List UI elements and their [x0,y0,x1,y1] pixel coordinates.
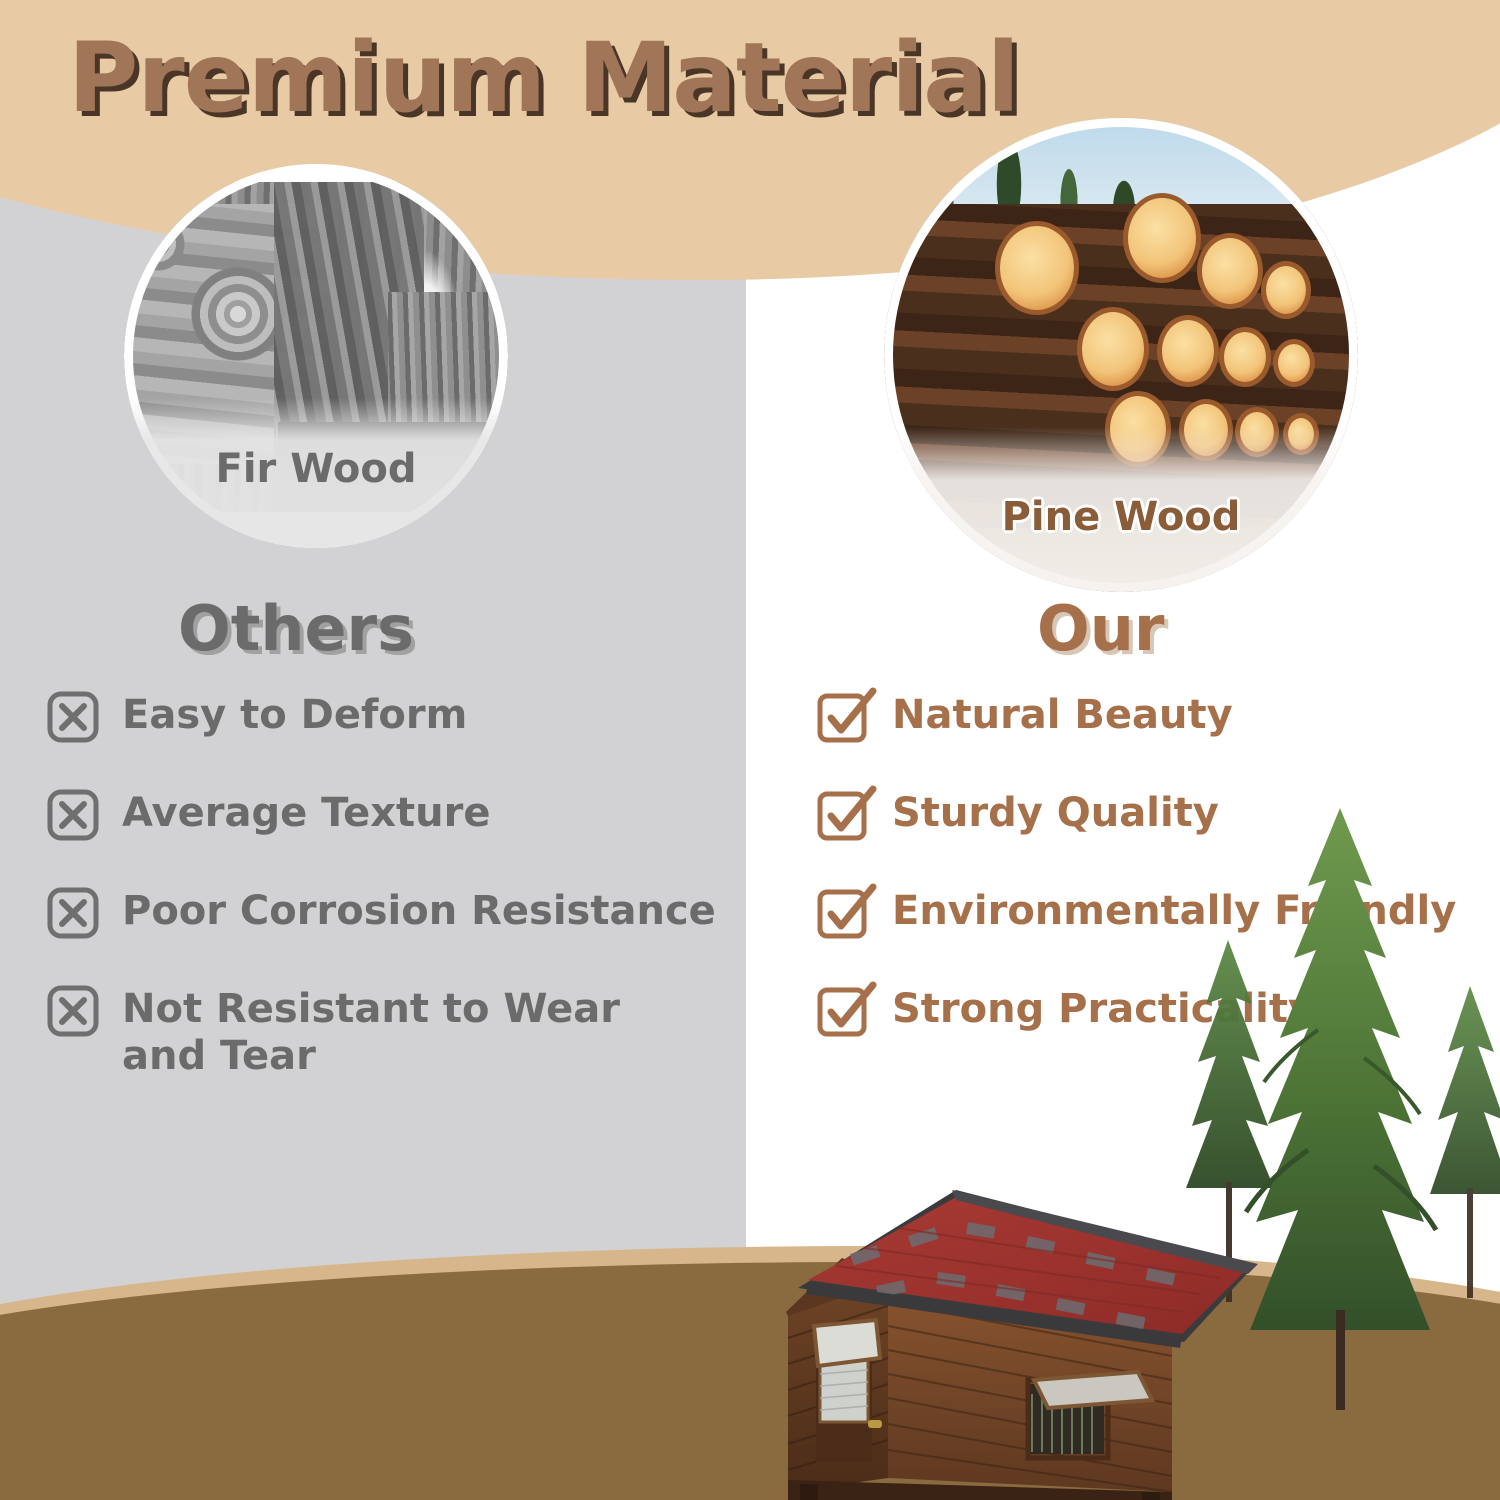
list-item: Strong Practicality [816,984,1500,1038]
list-item: Not Resistant to Wear and Tear [46,984,736,1080]
list-item: Average Texture [46,788,736,842]
list-item-label: Poor Corrosion Resistance [122,886,716,935]
our-feature-list: Natural Beauty Sturdy Quality Environmen… [816,690,1500,1082]
our-heading: Our [1037,592,1164,665]
x-box-icon [46,788,100,842]
list-item: Poor Corrosion Resistance [46,886,736,940]
check-box-icon [816,984,870,1038]
list-item-label: Strong Practicality [892,984,1314,1033]
infographic-page: Premium Material Fir Wood [0,0,1500,1500]
pine-wood-label: Pine Wood [884,494,1358,540]
list-item-label: Sturdy Quality [892,788,1219,837]
others-heading: Others [178,592,414,665]
page-title: Premium Material [68,22,1019,134]
list-item-label: Average Texture [122,788,491,837]
list-item-label: Environmentally Friendly [892,886,1456,935]
list-item-label: Not Resistant to Wear and Tear [122,984,682,1080]
others-feature-list: Easy to Deform Average Texture Poor Corr… [46,690,736,1124]
fir-wood-circle: Fir Wood [124,164,508,548]
x-box-icon [46,984,100,1038]
list-item-label: Natural Beauty [892,690,1233,739]
fir-wood-label: Fir Wood [124,446,508,492]
check-box-icon [816,690,870,744]
check-box-icon [816,886,870,940]
pine-wood-circle: Pine Wood [884,118,1358,592]
list-item: Natural Beauty [816,690,1500,744]
check-box-icon [816,788,870,842]
x-box-icon [46,690,100,744]
list-item: Sturdy Quality [816,788,1500,842]
list-item: Environmentally Friendly [816,886,1500,940]
x-box-icon [46,886,100,940]
list-item: Easy to Deform [46,690,736,744]
list-item-label: Easy to Deform [122,690,467,739]
